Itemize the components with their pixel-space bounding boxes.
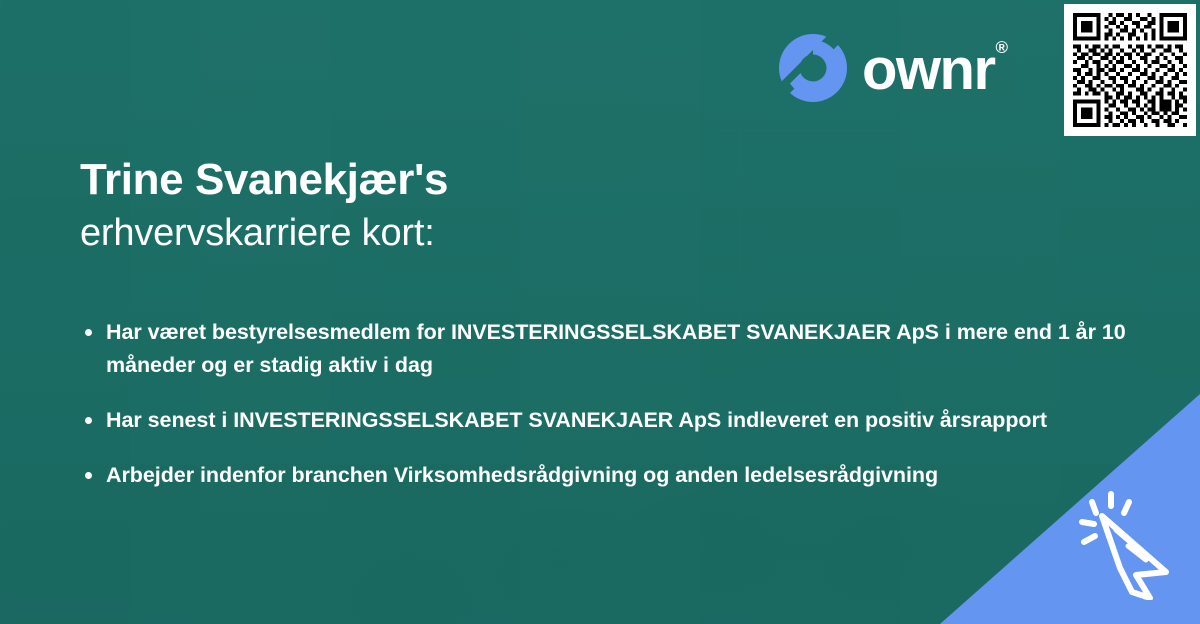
title-line-subtitle: erhvervskarriere kort: xyxy=(80,211,840,257)
teal-color-overlay xyxy=(0,0,1200,624)
brand-wordmark: ownr® xyxy=(862,41,1007,99)
page-title: Trine Svanekjær's erhvervskarriere kort: xyxy=(80,155,840,257)
career-highlights-list: Har været bestyrelsesmedlem for INVESTER… xyxy=(80,316,1140,514)
ownr-circle-logo-icon xyxy=(778,33,848,103)
list-item: Har været bestyrelsesmedlem for INVESTER… xyxy=(80,316,1140,382)
title-line-person: Trine Svanekjær's xyxy=(80,155,840,205)
list-item: Arbejder indenfor branchen Virksomhedsrå… xyxy=(80,459,1140,492)
qr-code[interactable] xyxy=(1064,4,1196,136)
brand-name: ownr xyxy=(862,37,995,102)
career-card: ownr® xyxy=(0,0,1200,624)
brand-logo[interactable]: ownr® xyxy=(778,33,1007,103)
qr-code-icon xyxy=(1073,13,1187,127)
list-item: Har senest i INVESTERINGSSELSKABET SVANE… xyxy=(80,404,1140,437)
registered-trademark-icon: ® xyxy=(996,38,1009,57)
